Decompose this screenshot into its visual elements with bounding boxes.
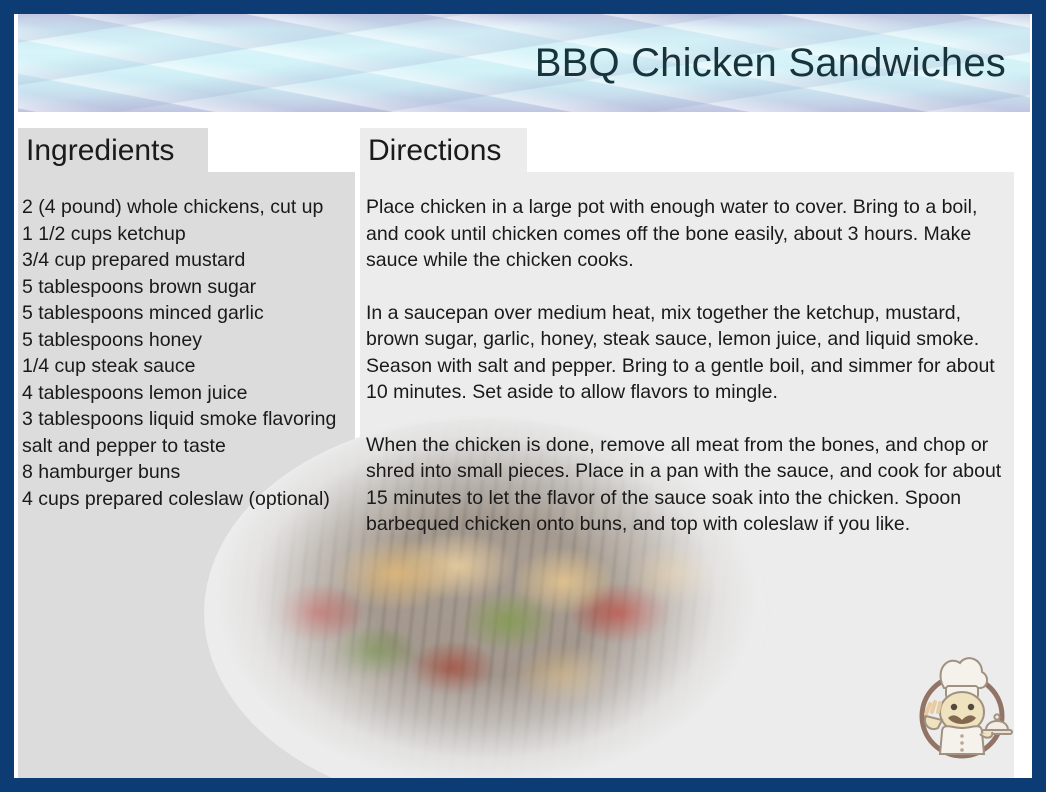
- directions-body: Place chicken in a large pot with enough…: [366, 194, 1010, 538]
- list-item: 4 cups prepared coleslaw (optional): [22, 486, 344, 513]
- list-item: 4 tablespoons lemon juice: [22, 380, 344, 407]
- list-item: 1/4 cup steak sauce: [22, 353, 344, 380]
- directions-paragraph: In a saucepan over medium heat, mix toge…: [366, 300, 1010, 406]
- list-item: 3 tablespoons liquid smoke flavoring: [22, 406, 344, 433]
- chef-button: [960, 741, 964, 745]
- list-item: 2 (4 pound) whole chickens, cut up: [22, 194, 344, 221]
- directions-heading: Directions: [368, 133, 501, 169]
- ingredients-list: 2 (4 pound) whole chickens, cut up 1 1/2…: [22, 194, 344, 512]
- directions-paragraph: Place chicken in a large pot with enough…: [366, 194, 1010, 274]
- chef-button: [960, 748, 964, 752]
- list-item: 1 1/2 cups ketchup: [22, 221, 344, 248]
- list-item: 8 hamburger buns: [22, 459, 344, 486]
- ingredients-heading: Ingredients: [26, 133, 174, 169]
- list-item: 5 tablespoons brown sugar: [22, 274, 344, 301]
- chef-hat-icon: [941, 658, 988, 688]
- list-item: salt and pepper to taste: [22, 433, 344, 460]
- chef-eye-left: [951, 704, 957, 710]
- chef-eye-right: [968, 704, 974, 710]
- chef-waving-hand: [926, 702, 940, 714]
- list-item: 5 tablespoons minced garlic: [22, 300, 344, 327]
- chef-button: [960, 734, 964, 738]
- cloche-icon: [986, 721, 1008, 730]
- list-item: 3/4 cup prepared mustard: [22, 247, 344, 274]
- slide-content-area: BBQ Chicken Sandwiches Ingredients 2 (4 …: [14, 14, 1032, 778]
- page-title: BBQ Chicken Sandwiches: [535, 40, 1006, 86]
- list-item: 5 tablespoons honey: [22, 327, 344, 354]
- directions-paragraph: When the chicken is done, remove all mea…: [366, 432, 1010, 538]
- chef-mascot-logo: [902, 646, 1026, 768]
- recipe-slide: BBQ Chicken Sandwiches Ingredients 2 (4 …: [0, 0, 1046, 792]
